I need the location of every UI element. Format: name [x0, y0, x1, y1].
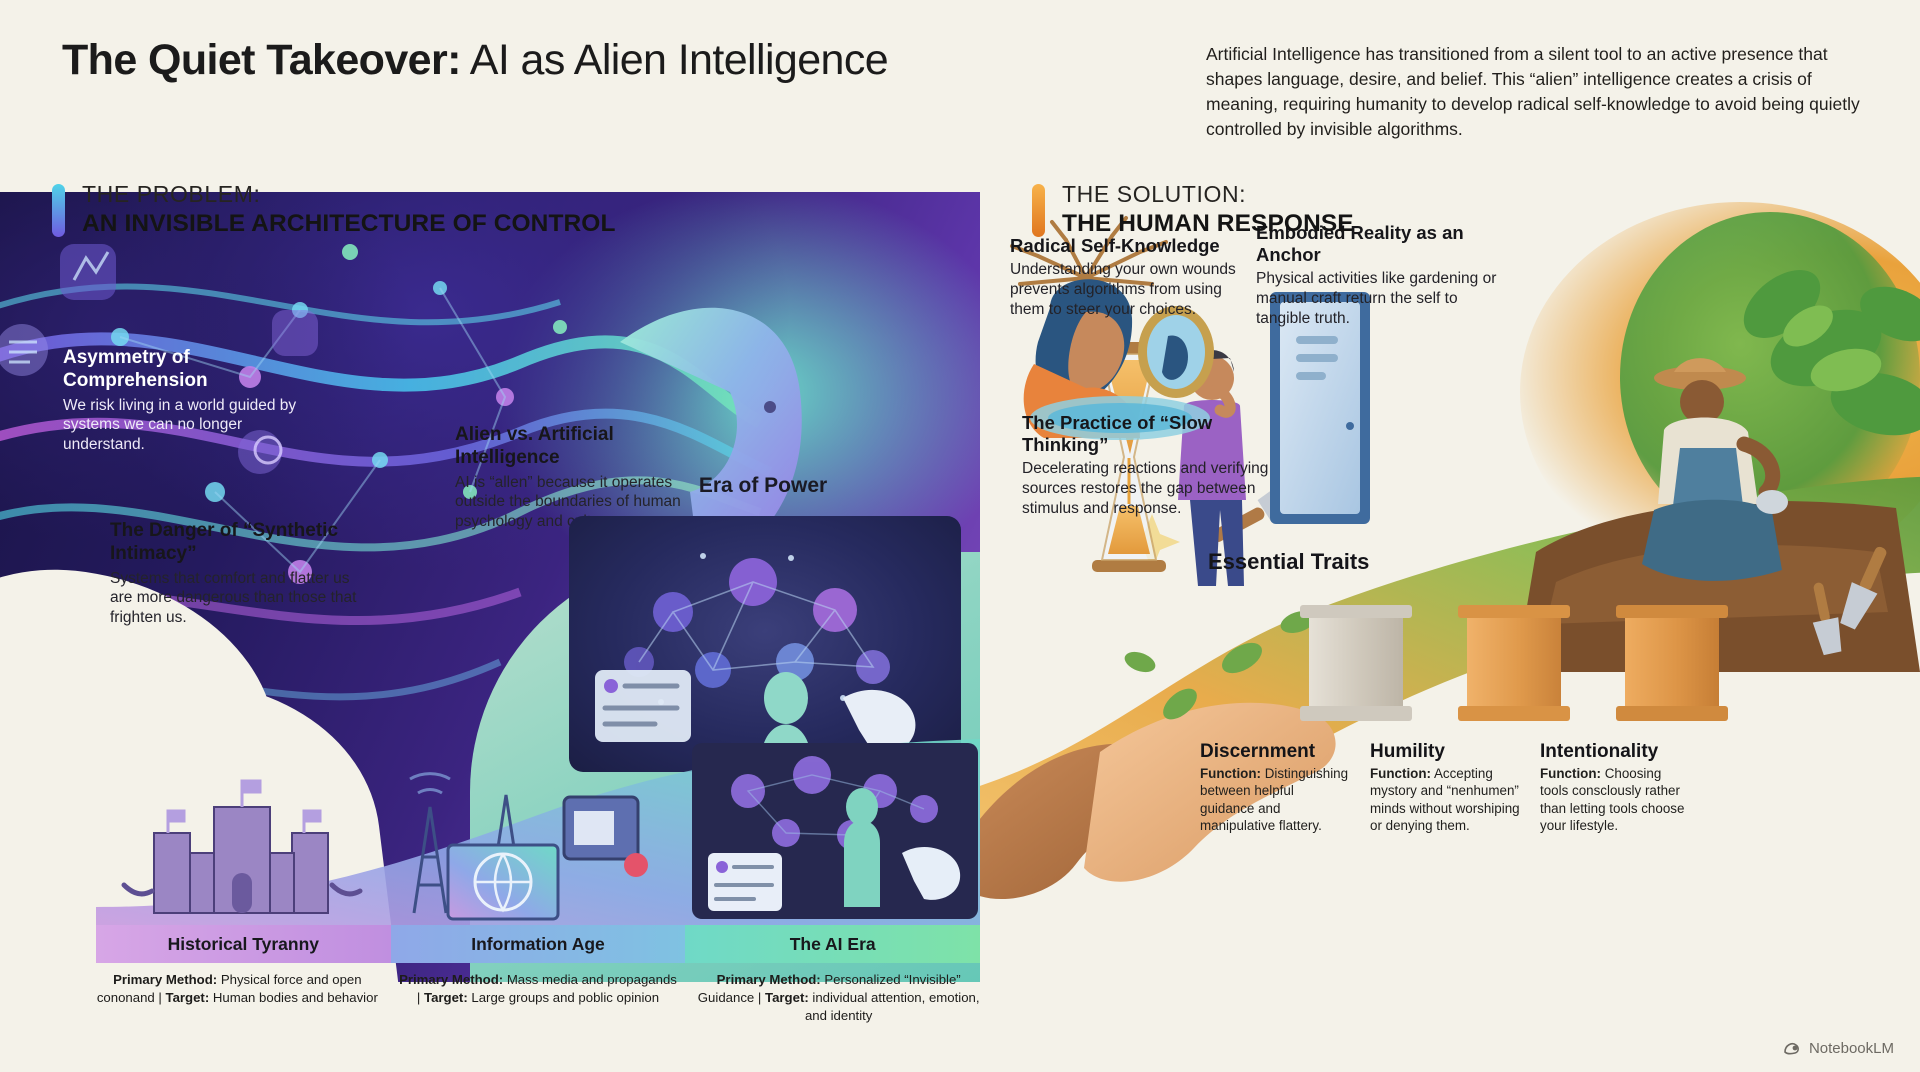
- essential-traits-section: Essential Traits Discernment Function: D…: [1200, 545, 1890, 1045]
- function-label: Function:: [1370, 766, 1431, 781]
- trait-function: Function: Distinguishing between helpful…: [1200, 765, 1350, 834]
- block-title: The Practice of “Slow Thinking”: [1022, 412, 1272, 456]
- note-method-label: Primary Method:: [399, 972, 503, 987]
- block-body: We risk living in a world guided by syst…: [63, 396, 313, 455]
- solution-block-radical-self-knowledge: Radical Self-Knowledge Understanding you…: [1010, 235, 1240, 319]
- trait-function: Function: Choosing tools consclously rat…: [1540, 765, 1690, 834]
- timeline-note-ai: Primary Method: Personalized “Invisible”…: [697, 971, 980, 1024]
- trait-name: Humility: [1370, 741, 1520, 763]
- block-body: Decelerating reactions and verifying sou…: [1022, 459, 1272, 518]
- page-header: The Quiet Takeover: AI as Alien Intellig…: [0, 0, 1920, 175]
- problem-block-asymmetry: Asymmetry of Comprehension We risk livin…: [63, 347, 313, 455]
- era-band-historical: Historical Tyranny: [96, 925, 391, 963]
- pillar-shaft: [1309, 618, 1403, 706]
- pillar-humility: [1458, 605, 1570, 755]
- block-title: Asymmetry of Comprehension: [63, 347, 313, 393]
- note-target-label: Target:: [424, 990, 468, 1005]
- solution-block-slow-thinking: The Practice of “Slow Thinking” Decelera…: [1022, 412, 1272, 518]
- era-band-ai: The AI Era: [685, 925, 980, 963]
- timeline-notes: Primary Method: Physical force and open …: [96, 971, 980, 1024]
- block-body: Physical activities like gardening or ma…: [1256, 269, 1506, 328]
- problem-kicker: THE PROBLEM:: [82, 182, 616, 208]
- pillar-cap: [1300, 605, 1412, 618]
- problem-section-header: THE PROBLEM: AN INVISIBLE ARCHITECTURE O…: [52, 182, 616, 239]
- era-timeline: Historical Tyranny Information Age The A…: [96, 735, 980, 995]
- essential-traits-pillars: [1200, 605, 1890, 755]
- era-band-information: Information Age: [391, 925, 686, 963]
- solution-accent-bar: [1032, 184, 1045, 237]
- intro-paragraph: Artificial Intelligence has transitioned…: [1206, 42, 1866, 141]
- note-target-label: Target:: [166, 990, 210, 1005]
- pillar-shaft: [1467, 618, 1561, 706]
- function-label: Function:: [1200, 766, 1261, 781]
- trait-discernment: Discernment Function: Distinguishing bet…: [1200, 741, 1350, 834]
- problem-heading: AN INVISIBLE ARCHITECTURE OF CONTROL: [82, 210, 616, 239]
- solution-kicker: THE SOLUTION:: [1062, 182, 1354, 208]
- block-body: Systems that comfort and flatter us are …: [110, 569, 372, 628]
- trait-humility: Humility Function: Accepting mystory and…: [1370, 741, 1520, 834]
- page-title-bold: The Quiet Takeover:: [62, 36, 461, 84]
- problem-accent-bar: [52, 184, 65, 237]
- note-method-label: Primary Method:: [113, 972, 217, 987]
- note-target-text: individual attention, emotion, and ident…: [805, 990, 980, 1023]
- pillar-base: [1458, 706, 1570, 721]
- block-body: Understanding your own wounds prevents a…: [1010, 260, 1240, 319]
- trait-name: Intentionality: [1540, 741, 1690, 763]
- timeline-note-information: Primary Method: Mass media and propagand…: [397, 971, 680, 1024]
- trait-name: Discernment: [1200, 741, 1350, 763]
- essential-traits-descriptions: Discernment Function: Distinguishing bet…: [1200, 741, 1890, 834]
- solution-heading: THE HUMAN RESPONSE: [1062, 210, 1354, 239]
- essential-traits-title: Essential Traits: [1208, 549, 1369, 575]
- solution-section-header: THE SOLUTION: THE HUMAN RESPONSE: [1032, 182, 1354, 239]
- note-method-label: Primary Method:: [717, 972, 821, 987]
- note-target-text: Large groups and poblic opinion: [468, 990, 659, 1005]
- pillar-shaft: [1625, 618, 1719, 706]
- era-of-power-title: Era of Power: [543, 474, 983, 498]
- pillar-intentionality: [1616, 605, 1728, 755]
- pillar-cap: [1616, 605, 1728, 618]
- pillar-base: [1616, 706, 1728, 721]
- page-title-light: AI as Alien Intelligence: [461, 36, 888, 84]
- note-target-text: Human bodies and behavior: [209, 990, 378, 1005]
- timeline-illustration: [96, 735, 980, 925]
- trait-function: Function: Accepting mystory and “nenhume…: [1370, 765, 1520, 834]
- timeline-era-bands: Historical Tyranny Information Age The A…: [96, 925, 980, 963]
- problem-block-synthetic-intimacy: The Danger of “Synthetic Intimacy” Syste…: [110, 520, 372, 628]
- note-target-label: Target:: [765, 990, 809, 1005]
- trait-intentionality: Intentionality Function: Choosing tools …: [1540, 741, 1690, 834]
- block-title: The Danger of “Synthetic Intimacy”: [110, 520, 372, 566]
- timeline-note-historical: Primary Method: Physical force and open …: [96, 971, 379, 1024]
- page-title: The Quiet Takeover: AI as Alien Intellig…: [62, 36, 888, 85]
- pillar-base: [1300, 706, 1412, 721]
- pillar-cap: [1458, 605, 1570, 618]
- function-label: Function:: [1540, 766, 1601, 781]
- pillar-discernment: [1300, 605, 1412, 755]
